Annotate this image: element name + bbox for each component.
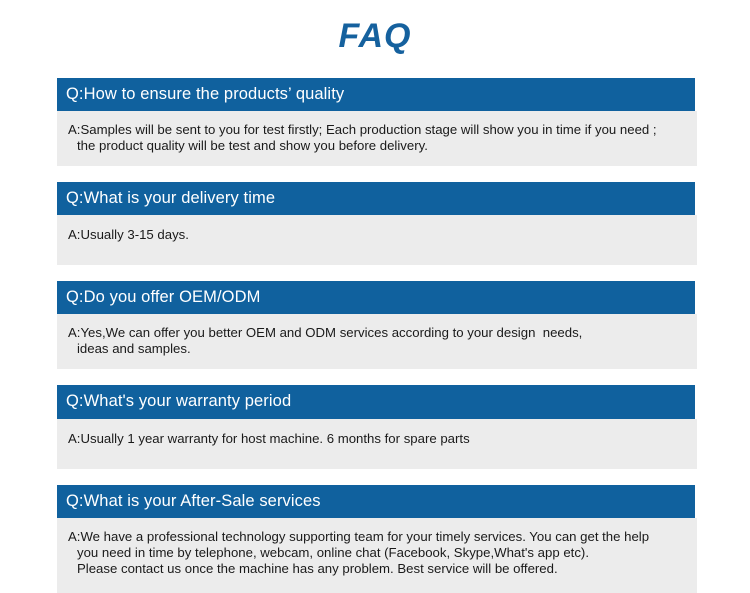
faq-list: Q:How to ensure the products’ quality A:…	[57, 78, 697, 593]
answer-line: ideas and samples.	[68, 341, 687, 357]
faq-item: Q:What's your warranty period A:Usually …	[57, 385, 697, 468]
answer-line: A:Usually 1 year warranty for host machi…	[68, 431, 687, 447]
answer-line: A:Samples will be sent to you for test f…	[68, 122, 687, 138]
faq-question[interactable]: Q:What is your After-Sale services	[57, 485, 695, 518]
faq-question[interactable]: Q:What's your warranty period	[57, 385, 695, 418]
page-title: FAQ	[0, 0, 750, 55]
answer-line: Please contact us once the machine has a…	[68, 561, 687, 577]
faq-question[interactable]: Q:What is your delivery time	[57, 182, 695, 215]
faq-answer: A:Usually 3-15 days.	[57, 215, 697, 265]
faq-item: Q:What is your delivery time A:Usually 3…	[57, 182, 697, 265]
faq-item: Q:Do you offer OEM/ODM A:Yes,We can offe…	[57, 281, 697, 369]
faq-item: Q:How to ensure the products’ quality A:…	[57, 78, 697, 166]
faq-answer: A:Yes,We can offer you better OEM and OD…	[57, 314, 697, 369]
answer-line: A:Usually 3-15 days.	[68, 227, 687, 243]
faq-item: Q:What is your After-Sale services A:We …	[57, 485, 697, 593]
faq-answer: A:Usually 1 year warranty for host machi…	[57, 419, 697, 469]
answer-line: A:Yes,We can offer you better OEM and OD…	[68, 325, 687, 341]
faq-answer: A:Samples will be sent to you for test f…	[57, 111, 697, 166]
faq-page: FAQ Q:How to ensure the products’ qualit…	[0, 0, 750, 573]
faq-question[interactable]: Q:How to ensure the products’ quality	[57, 78, 695, 111]
answer-line: A:We have a professional technology supp…	[68, 529, 687, 545]
answer-line: you need in time by telephone, webcam, o…	[68, 545, 687, 561]
faq-question[interactable]: Q:Do you offer OEM/ODM	[57, 281, 695, 314]
faq-answer: A:We have a professional technology supp…	[57, 518, 697, 593]
answer-line: the product quality will be test and sho…	[68, 138, 687, 154]
